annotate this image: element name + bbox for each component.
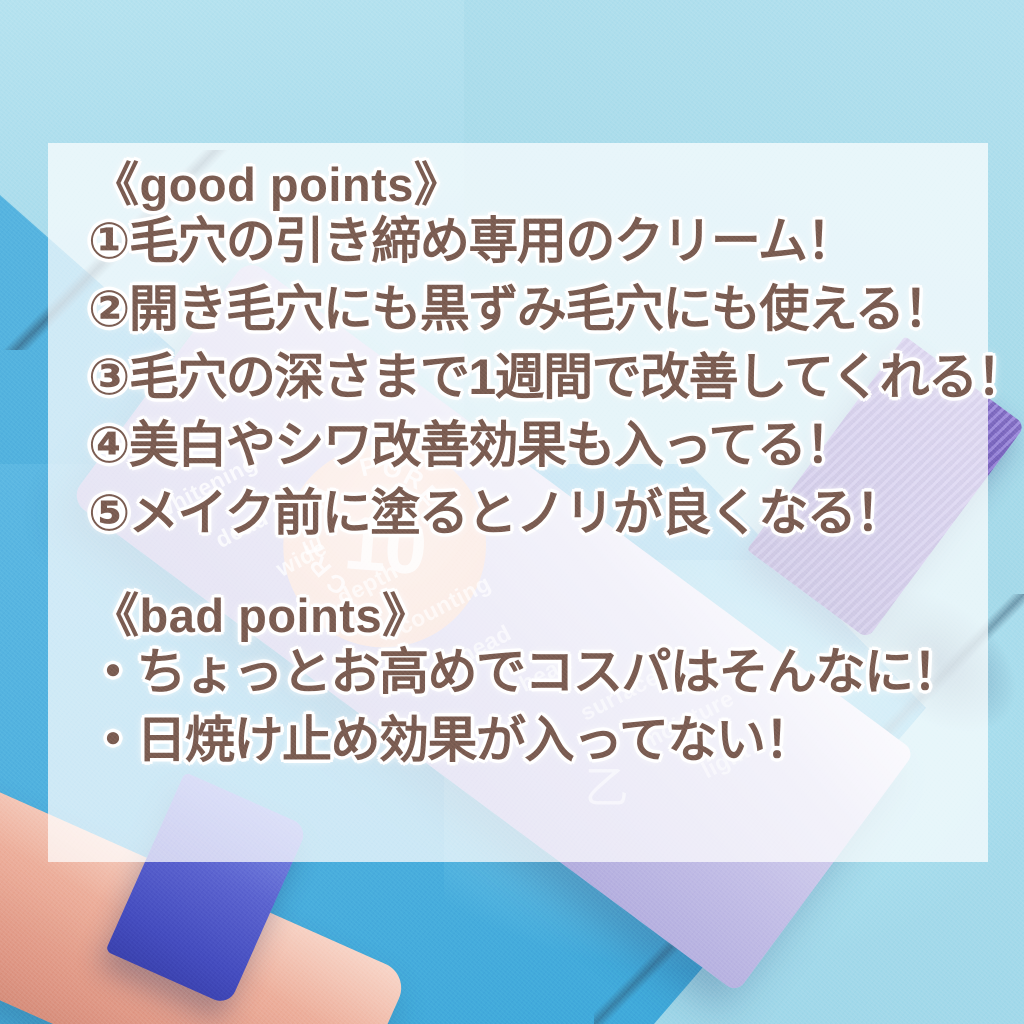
screenshot-canvas: PORECREAM 10 whiteningdead skinwidedepth… — [0, 0, 1024, 1024]
paper-grain-overlay — [0, 0, 1024, 1024]
